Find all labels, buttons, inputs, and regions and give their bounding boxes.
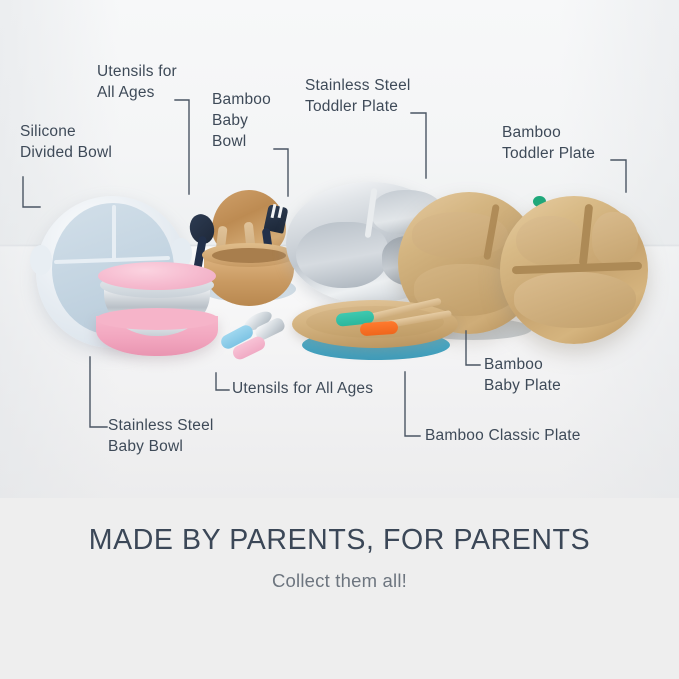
callout-label-silicone-divided-bowl: Silicone Divided Bowl [20,121,195,163]
steel-baby-bowl-base-top [96,308,218,330]
callout-label-bamboo-classic-plate: Bamboo Classic Plate [425,425,625,446]
callout-label-bamboo-baby-plate: Bamboo Baby Plate [484,354,624,396]
silicone-bowl-tab-left [30,245,52,275]
bamboo-toddler-plate-well-top-left [516,216,582,266]
footer-headline: MADE BY PARENTS, FOR PARENTS [0,524,679,557]
callout-label-utensils-for-all-ages-bottom: Utensils for All Ages [232,378,422,399]
bamboo-baby-bowl-interior [212,248,286,263]
steel-baby-bowl-lid [98,262,216,290]
product-infographic: Silicone Divided Bowl Utensils for All A… [0,0,679,679]
callout-label-bamboo-toddler-plate: Bamboo Toddler Plate [502,122,637,164]
callout-label-stainless-steel-toddler-plate: Stainless Steel Toddler Plate [305,75,440,117]
bamboo-toddler-plate-well-bottom [514,272,636,328]
callout-label-utensils-for-all-ages-top: Utensils for All Ages [97,61,207,103]
callout-label-bamboo-baby-bowl: Bamboo Baby Bowl [212,89,302,152]
bamboo-toddler-plate-well-top-right [592,212,638,266]
silicone-bowl-divider-vertical [112,205,116,261]
orange-spoon-head [360,321,399,337]
footer-subheadline: Collect them all! [0,570,679,592]
steel-plate-well-large [296,222,388,288]
callout-label-stainless-steel-baby-bowl: Stainless Steel Baby Bowl [108,415,268,457]
